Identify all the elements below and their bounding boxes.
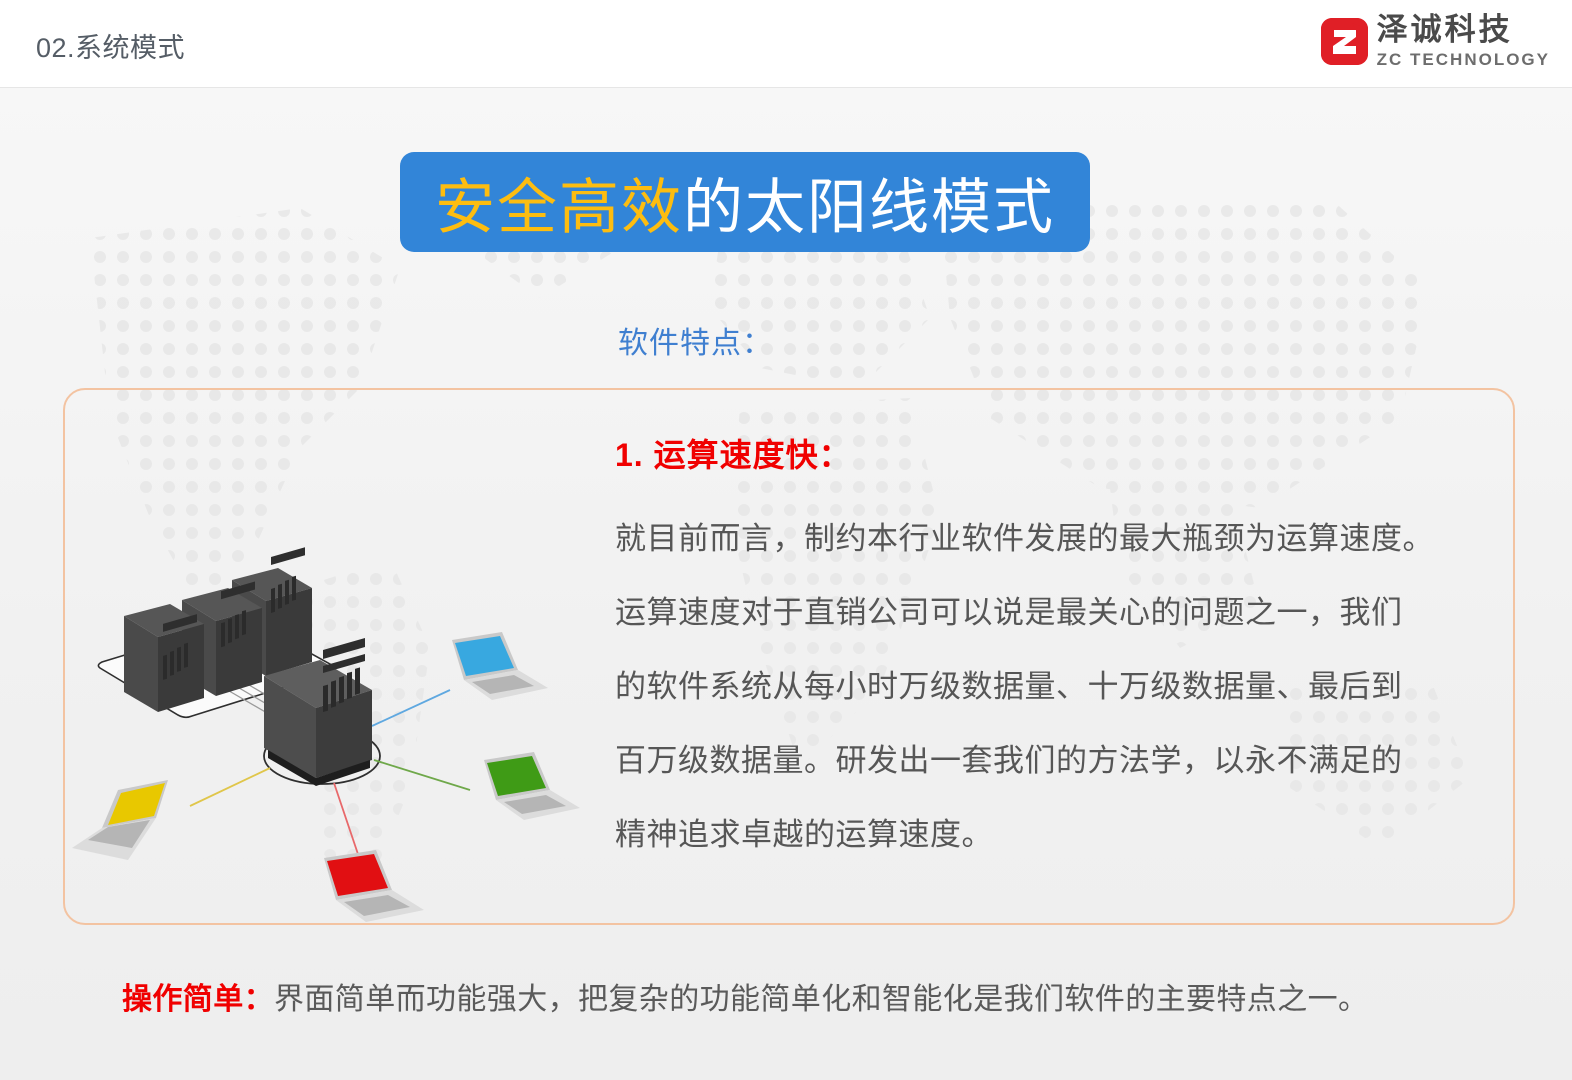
logo-name-cn: 泽诚科技 xyxy=(1377,14,1550,45)
feature-heading: 1. 运算速度快： xyxy=(615,430,852,476)
paragraph-line: 的软件系统从每小时万级数据量、十万级数据量、最后到 xyxy=(615,650,1495,724)
paragraph-line: 就目前而言，制约本行业软件发展的最大瓶颈为运算速度。 xyxy=(615,502,1495,576)
feature-paragraph: 就目前而言，制约本行业软件发展的最大瓶颈为运算速度。 运算速度对于直销公司可以说… xyxy=(615,502,1495,872)
title-banner: 安全高效的太阳线模式 xyxy=(400,152,1090,252)
title-rest: 的太阳线模式 xyxy=(683,173,1055,243)
paragraph-line: 精神追求卓越的运算速度。 xyxy=(615,798,1495,872)
section-label: 02.系统模式 xyxy=(36,26,185,65)
bottom-summary-line: 操作简单：界面简单而功能强大，把复杂的功能简单化和智能化是我们软件的主要特点之一… xyxy=(122,974,1368,1018)
logo-name-en: ZC TECHNOLOGY xyxy=(1377,51,1550,68)
bottom-text: 界面简单而功能强大，把复杂的功能简单化和智能化是我们软件的主要特点之一。 xyxy=(274,983,1368,1016)
software-feature-label: 软件特点： xyxy=(618,318,773,362)
title-text: 安全高效的太阳线模式 xyxy=(435,159,1055,246)
slide-header: 02.系统模式 泽诚科技 ZC TECHNOLOGY xyxy=(0,0,1572,88)
company-logo: 泽诚科技 ZC TECHNOLOGY xyxy=(1321,14,1550,68)
title-highlight: 安全高效 xyxy=(435,173,683,243)
paragraph-line: 运算速度对于直销公司可以说是最关心的问题之一，我们 xyxy=(615,576,1495,650)
zc-logo-mark-icon xyxy=(1321,18,1368,65)
logo-text-block: 泽诚科技 ZC TECHNOLOGY xyxy=(1377,14,1550,68)
slide-root: 02.系统模式 泽诚科技 ZC TECHNOLOGY xyxy=(0,0,1572,1080)
bottom-label: 操作简单： xyxy=(122,983,274,1016)
paragraph-line: 百万级数据量。研发出一套我们的方法学，以永不满足的 xyxy=(615,724,1495,798)
